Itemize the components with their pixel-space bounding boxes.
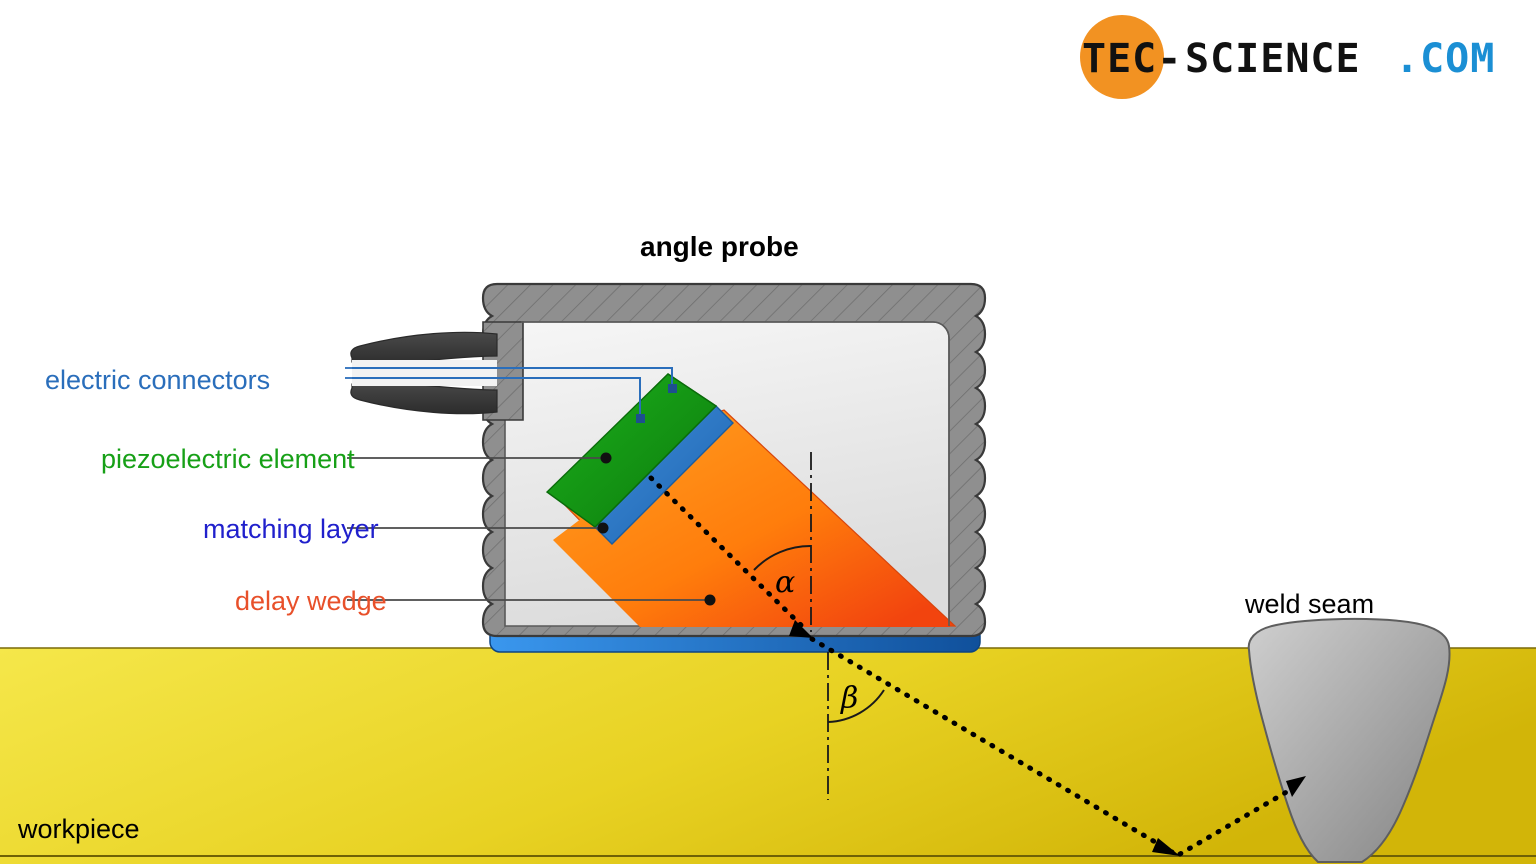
alpha-symbol: α <box>775 565 795 600</box>
label-delay-wedge: delay wedge <box>235 586 387 616</box>
site-logo[interactable]: TEC- SCIENCE .COM <box>1080 15 1495 99</box>
dot-piezo <box>601 453 612 464</box>
label-piezoelectric-element: piezoelectric element <box>101 444 355 474</box>
logo-text-science: SCIENCE <box>1185 36 1361 82</box>
label-weld-seam: weld seam <box>1244 589 1374 619</box>
logo-text-tec: TEC- <box>1082 36 1182 82</box>
dot-matching <box>598 523 609 534</box>
connector-leader-lines <box>345 368 352 378</box>
logo-text-com: .COM <box>1395 36 1495 82</box>
label-electric-connectors: electric connectors <box>45 365 270 395</box>
diagram-canvas: angle probe electric connectors piezoele… <box>0 0 1536 864</box>
label-workpiece: workpiece <box>17 814 140 844</box>
page-title: angle probe <box>640 231 799 262</box>
dot-wedge <box>705 595 716 606</box>
label-matching-layer: matching layer <box>203 514 379 544</box>
beta-symbol: β <box>840 681 858 716</box>
electric-connector-cable <box>351 332 497 413</box>
